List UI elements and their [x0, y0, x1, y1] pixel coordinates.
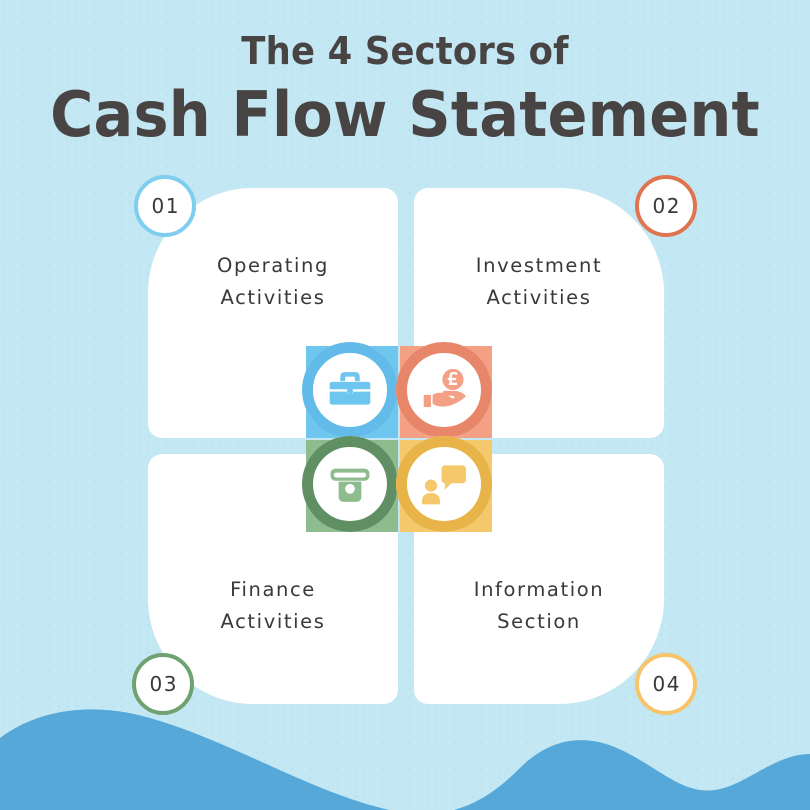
- atm-machine-icon: [324, 458, 376, 510]
- title-line-2: Cash Flow Statement: [20, 78, 790, 152]
- title-line-1: The 4 Sectors of: [28, 26, 781, 76]
- sector-number-badge-04[interactable]: 04: [635, 653, 697, 715]
- sector-label-information-section: Information Section: [414, 574, 664, 638]
- sector-number-badge-01[interactable]: 01: [134, 175, 196, 237]
- sector-icon-badge-operating-activities[interactable]: [302, 342, 398, 438]
- hand-holding-pound-icon: [418, 364, 470, 416]
- briefcase-icon: [324, 364, 376, 416]
- sector-number-badge-02[interactable]: 02: [635, 175, 697, 237]
- person-speech-bubble-icon: [418, 458, 470, 510]
- infographic-canvas: The 4 Sectors of Cash Flow Statement Ope…: [0, 0, 810, 810]
- sector-icon-badge-finance-activities[interactable]: [302, 436, 398, 532]
- page-title: The 4 Sectors of Cash Flow Statement: [0, 26, 810, 152]
- sector-number-badge-03[interactable]: 03: [132, 653, 194, 715]
- sector-petal-cluster: Operating Activities Investment Activiti…: [148, 188, 664, 704]
- sector-icon-badge-information-section[interactable]: [396, 436, 492, 532]
- sector-label-investment-activities: Investment Activities: [414, 250, 664, 314]
- sector-label-operating-activities: Operating Activities: [148, 250, 398, 314]
- sector-icon-badge-investment-activities[interactable]: [396, 342, 492, 438]
- sector-label-finance-activities: Finance Activities: [148, 574, 398, 638]
